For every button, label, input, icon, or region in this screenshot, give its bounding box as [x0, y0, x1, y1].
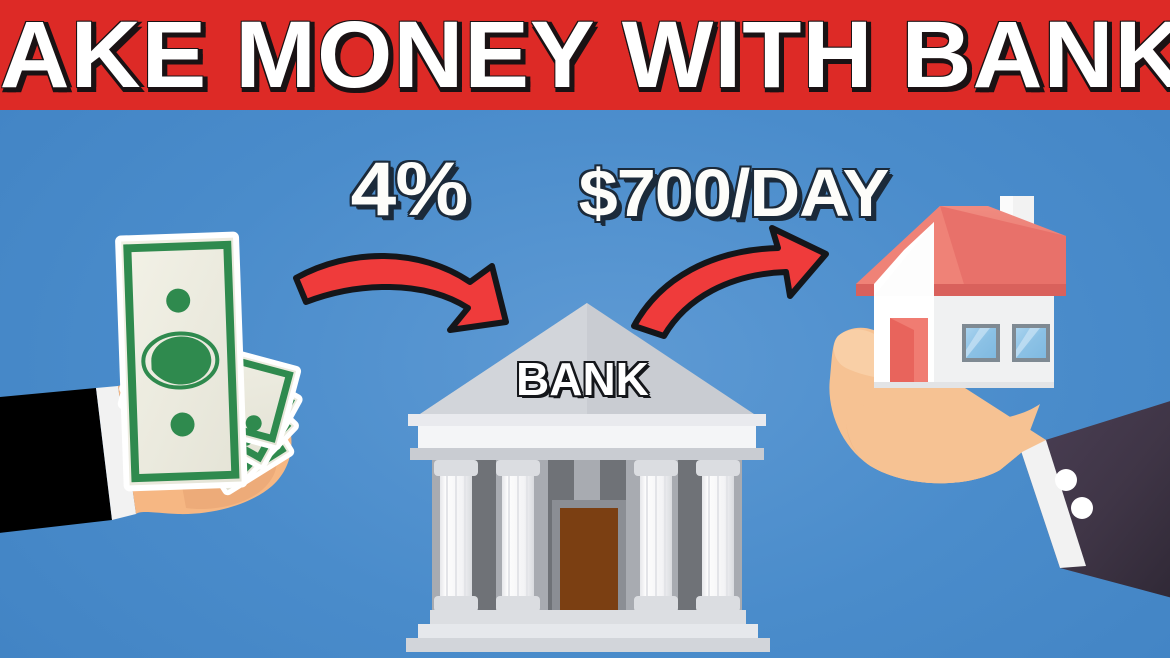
- cash-fan: [118, 235, 301, 494]
- bank-steps: [406, 610, 770, 652]
- house-window: [1012, 324, 1050, 362]
- bank-sign-label: BANK: [516, 352, 649, 406]
- bank-architrave: [418, 426, 756, 448]
- house-hand-group: [829, 196, 1170, 600]
- right-arrow-icon: [634, 228, 826, 336]
- sleeve-button: [1055, 469, 1077, 491]
- bank-cornice-bottom: [410, 448, 764, 460]
- sleeve-button: [1071, 497, 1093, 519]
- title-banner: MAKE MONEY WITH BANKS: [0, 0, 1170, 110]
- daily-income-label: $700/DAY: [579, 155, 889, 232]
- dollar-bill: [118, 235, 245, 489]
- house-window: [962, 324, 1000, 362]
- money-hand-group: [0, 235, 301, 534]
- left-suit-sleeve: [0, 386, 136, 534]
- thumbnail-canvas: MAKE MONEY WITH BANKS 4% $700/DAY BANK: [0, 0, 1170, 658]
- left-arrow-icon: [296, 256, 506, 330]
- bank-cornice-top: [408, 414, 766, 426]
- bank-door: [560, 508, 618, 612]
- page-title: MAKE MONEY WITH BANKS: [0, 5, 1170, 105]
- interest-rate-label: 4%: [351, 146, 467, 233]
- right-suit-sleeve: [1020, 398, 1170, 600]
